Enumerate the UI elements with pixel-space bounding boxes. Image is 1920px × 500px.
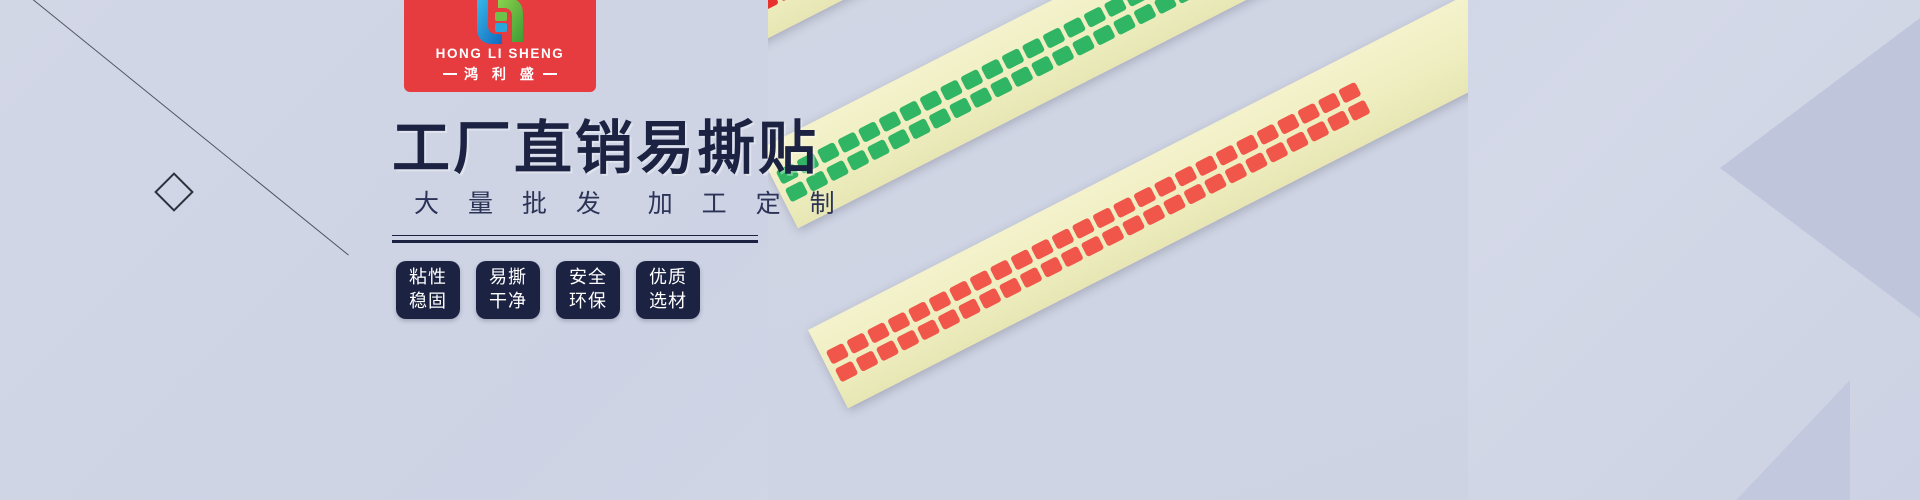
feature-badge-line1: 优质 xyxy=(649,266,687,290)
company-logo: HONG LI SHENG 鸿 利 盛 xyxy=(404,0,596,92)
subheadline: 大 量 批 发 加 工 定 制 xyxy=(414,192,846,217)
sticker-square xyxy=(1215,144,1239,166)
decor-diagonal-line xyxy=(0,0,349,256)
sticker-square xyxy=(1051,227,1075,249)
decor-diamond-outline xyxy=(154,172,194,212)
sticker-square xyxy=(948,280,972,302)
sticker-square xyxy=(1347,99,1371,121)
sticker-square xyxy=(887,128,911,150)
sticker-square xyxy=(957,297,981,319)
sticker-square xyxy=(1326,109,1350,131)
sticker-square xyxy=(1317,92,1341,114)
sticker-square xyxy=(989,76,1013,98)
sticker-square xyxy=(898,100,922,122)
sticker-square xyxy=(1021,37,1045,59)
sticker-square xyxy=(878,110,902,132)
sticker-square xyxy=(1083,6,1107,28)
logo-chinese-name: 鸿 利 盛 xyxy=(461,67,539,81)
sticker-square xyxy=(960,68,984,90)
sticker-square xyxy=(1039,256,1063,278)
sticker-square xyxy=(989,259,1013,281)
sticker-square xyxy=(980,58,1004,80)
sticker-square xyxy=(1112,196,1136,218)
sticker-square xyxy=(1235,133,1259,155)
sticker-square xyxy=(939,79,963,101)
sticker-square xyxy=(834,360,858,382)
feature-badge[interactable]: 粘性稳固 xyxy=(396,261,460,319)
sticker-square xyxy=(928,290,952,312)
sticker-square xyxy=(837,131,861,153)
sticker-square xyxy=(1285,130,1309,152)
sticker-square xyxy=(866,138,890,160)
sticker-square xyxy=(1256,123,1280,145)
sticker-square xyxy=(1142,203,1166,225)
decor-triangle-right-bottom xyxy=(1670,380,1850,500)
feature-badge-line1: 易撕 xyxy=(489,266,527,290)
divider-rule xyxy=(392,240,758,243)
sticker-square xyxy=(919,89,943,111)
sticker-square xyxy=(1244,151,1268,173)
sticker-square xyxy=(937,308,961,330)
sticker-square xyxy=(875,339,899,361)
logo-rule-right xyxy=(543,73,557,75)
sticker-square xyxy=(1010,65,1034,87)
sticker-square xyxy=(1224,162,1248,184)
sticker-square xyxy=(1133,186,1157,208)
sticker-square xyxy=(1306,120,1330,142)
sticker-square xyxy=(825,159,849,181)
sticker-row xyxy=(825,11,1468,364)
sticker-square xyxy=(1174,165,1198,187)
sticker-square xyxy=(1062,16,1086,38)
sticker-square xyxy=(1092,23,1116,45)
sticker-square xyxy=(1162,193,1186,215)
sticker-square xyxy=(768,0,779,12)
sticker-square xyxy=(855,350,879,372)
sticker-square xyxy=(1101,224,1125,246)
sticker-square xyxy=(969,269,993,291)
sticker-square xyxy=(887,311,911,333)
logo-monogram-icon xyxy=(471,0,529,44)
sticker-square xyxy=(1080,235,1104,257)
sticker-square xyxy=(1183,183,1207,205)
sticker-square xyxy=(1071,217,1095,239)
sticker-square xyxy=(1203,172,1227,194)
sticker-square xyxy=(1174,0,1198,4)
sticker-square xyxy=(866,321,890,343)
sticker-square xyxy=(1112,13,1136,35)
promo-banner: HONG LI SHENG 鸿 利 盛 工厂直销易撕贴 大 量 批 发 加 工 … xyxy=(0,0,1920,500)
feature-badge[interactable]: 安全环保 xyxy=(556,261,620,319)
sticker-square xyxy=(1297,102,1321,124)
sticker-square xyxy=(969,86,993,108)
sticker-square xyxy=(928,107,952,129)
sticker-square xyxy=(1092,207,1116,229)
sticker-square xyxy=(1030,238,1054,260)
feature-badge[interactable]: 易撕干净 xyxy=(476,261,540,319)
sticker-square xyxy=(1051,44,1075,66)
sticker-square xyxy=(916,318,940,340)
feature-badge-line1: 粘性 xyxy=(409,266,447,290)
feature-badge-list: 粘性稳固易撕干净安全环保优质选材 xyxy=(396,261,700,319)
sticker-square xyxy=(1060,245,1084,267)
sticker-square xyxy=(948,97,972,119)
feature-badge-line2: 稳固 xyxy=(409,290,447,314)
product-photo xyxy=(768,0,1468,500)
sticker-square xyxy=(1265,141,1289,163)
sticker-square xyxy=(1194,154,1218,176)
product-strip xyxy=(808,0,1468,408)
sticker-square xyxy=(1001,47,1025,69)
sticker-square xyxy=(907,300,931,322)
product-strip-dots xyxy=(808,0,1468,408)
sticker-square xyxy=(857,120,881,142)
sticker-square xyxy=(1276,113,1300,135)
sticker-square xyxy=(1121,214,1145,236)
decor-triangle-right-top xyxy=(1720,18,1920,318)
sticker-square xyxy=(1133,3,1157,25)
feature-badge-line2: 环保 xyxy=(569,290,607,314)
sticker-square xyxy=(1071,34,1095,56)
feature-badge-line2: 选材 xyxy=(649,290,687,314)
sticker-square xyxy=(1153,0,1177,14)
sticker-square xyxy=(825,342,849,364)
sticker-square xyxy=(846,332,870,354)
sticker-square xyxy=(978,287,1002,309)
sticker-square xyxy=(1338,81,1362,103)
headline: 工厂直销易撕贴 xyxy=(392,120,819,178)
sticker-square xyxy=(896,329,920,351)
sticker-square xyxy=(998,277,1022,299)
feature-badge-line1: 安全 xyxy=(569,266,607,290)
logo-rule-left xyxy=(443,73,457,75)
sticker-square xyxy=(1042,27,1066,49)
sticker-square xyxy=(1153,175,1177,197)
sticker-square xyxy=(1010,248,1034,270)
feature-badge-line2: 干净 xyxy=(489,290,527,314)
feature-badge[interactable]: 优质选材 xyxy=(636,261,700,319)
sticker-square xyxy=(775,0,799,1)
sticker-square xyxy=(1030,55,1054,77)
logo-english-name: HONG LI SHENG xyxy=(436,47,565,61)
sticker-square xyxy=(907,117,931,139)
sticker-square xyxy=(846,149,870,171)
sticker-square xyxy=(1019,266,1043,288)
sticker-square xyxy=(816,141,840,163)
logo-chinese-name-wrap: 鸿 利 盛 xyxy=(443,67,557,81)
